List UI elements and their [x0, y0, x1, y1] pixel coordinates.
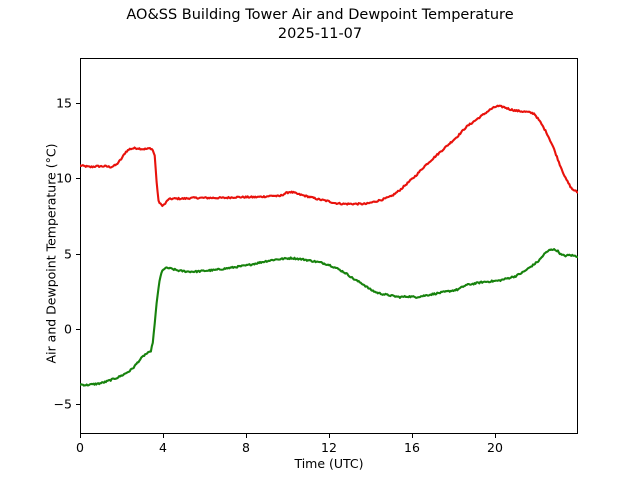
x-tick-label: 8: [226, 440, 266, 455]
x-tick-mark: [80, 434, 81, 438]
y-tick-label: 5: [30, 246, 72, 261]
x-tick-mark: [163, 434, 164, 438]
y-tick-label: 10: [30, 171, 72, 186]
x-tick-label: 20: [475, 440, 515, 455]
y-tick-label: −5: [30, 396, 72, 411]
dewpoint-temperature-line: [80, 249, 578, 386]
x-tick-mark: [495, 434, 496, 438]
x-tick: 8: [226, 440, 266, 455]
x-tick-label: 4: [143, 440, 183, 455]
chart-figure: AO&SS Building Tower Air and Dewpoint Te…: [0, 0, 640, 480]
x-tick-mark: [246, 434, 247, 438]
chart-title-line2: 2025-11-07: [0, 25, 640, 44]
x-tick-label: 16: [392, 440, 432, 455]
chart-title: AO&SS Building Tower Air and Dewpoint Te…: [0, 6, 640, 44]
x-axis-label: Time (UTC): [80, 456, 578, 471]
x-tick: 20: [475, 440, 515, 455]
x-tick: 4: [143, 440, 183, 455]
y-tick-mark: [76, 254, 80, 255]
y-tick-label: 0: [30, 321, 72, 336]
y-tick-mark: [76, 103, 80, 104]
chart-lines: [80, 58, 578, 434]
air-temperature-line: [80, 106, 578, 206]
x-tick-label: 0: [60, 440, 100, 455]
chart-title-line1: AO&SS Building Tower Air and Dewpoint Te…: [0, 6, 640, 25]
y-tick-mark: [76, 404, 80, 405]
y-tick-mark: [76, 178, 80, 179]
x-tick-mark: [412, 434, 413, 438]
x-tick: 0: [60, 440, 100, 455]
y-tick-mark: [76, 329, 80, 330]
x-tick: 16: [392, 440, 432, 455]
x-tick: 12: [309, 440, 349, 455]
x-tick-label: 12: [309, 440, 349, 455]
x-tick-mark: [329, 434, 330, 438]
y-tick-label: 15: [30, 96, 72, 111]
